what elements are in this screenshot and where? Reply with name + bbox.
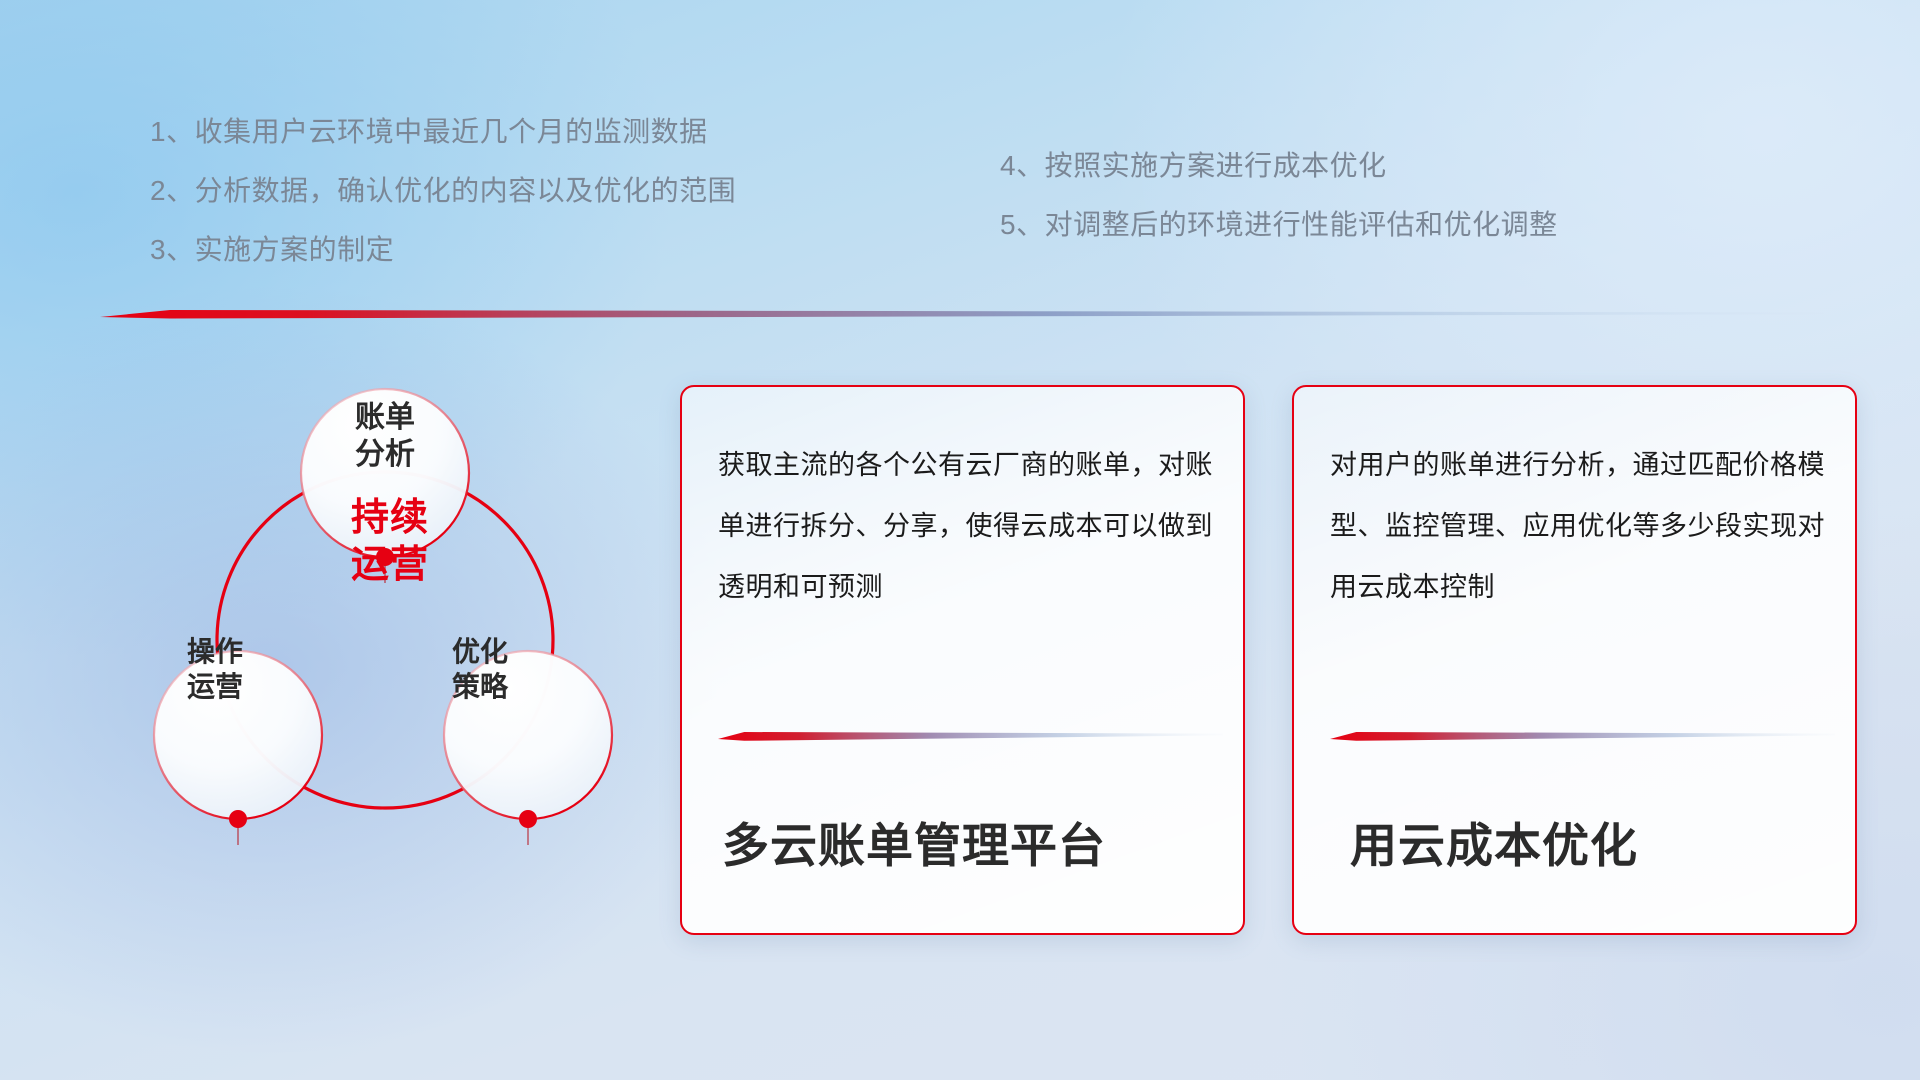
card-rule-shape	[1330, 729, 1835, 743]
node-dot-right	[519, 810, 537, 828]
card-accent-rule	[718, 729, 1223, 743]
bullet-item: 5、对调整后的环境进行性能评估和优化调整	[1000, 211, 1558, 239]
node-dot-left	[229, 810, 247, 828]
continuous-operation-diagram: 账单 分析 操作 运营 优化 策略 持续 运营	[90, 335, 690, 955]
section-divider	[100, 306, 1824, 322]
card-title: 用云成本优化	[1350, 807, 1835, 876]
card-accent-rule	[1330, 729, 1835, 743]
card-rule-shape	[718, 729, 1223, 743]
bullet-column-left: 1、收集用户云环境中最近几个月的监测数据 2、分析数据，确认优化的内容以及优化的…	[150, 118, 736, 295]
bullet-item: 2、分析数据，确认优化的内容以及优化的范围	[150, 177, 736, 205]
feature-card-multicloud-billing[interactable]: 获取主流的各个公有云厂商的账单，对账单进行拆分、分享，使得云成本可以做到透明和可…	[680, 385, 1245, 935]
node-label-right: 优化 策略	[390, 635, 570, 704]
bullet-column-right: 4、按照实施方案进行成本优化 5、对调整后的环境进行性能评估和优化调整	[1000, 152, 1558, 270]
card-title: 多云账单管理平台	[722, 807, 1223, 876]
bullet-item: 3、实施方案的制定	[150, 236, 736, 264]
card-body-text: 获取主流的各个公有云厂商的账单，对账单进行拆分、分享，使得云成本可以做到透明和可…	[718, 435, 1213, 617]
node-label-left: 操作 运营	[125, 635, 305, 704]
divider-shape	[100, 306, 1824, 322]
card-body-text: 对用户的账单进行分析，通过匹配价格模型、监控管理、应用优化等多少段实现对用云成本…	[1330, 435, 1825, 617]
bullet-item: 4、按照实施方案进行成本优化	[1000, 152, 1558, 180]
venn-center-label: 持续 运营	[240, 495, 540, 589]
node-label-top: 账单 分析	[295, 399, 475, 473]
bullet-item: 1、收集用户云环境中最近几个月的监测数据	[150, 118, 736, 146]
feature-card-cloud-cost-optimization[interactable]: 对用户的账单进行分析，通过匹配价格模型、监控管理、应用优化等多少段实现对用云成本…	[1292, 385, 1857, 935]
